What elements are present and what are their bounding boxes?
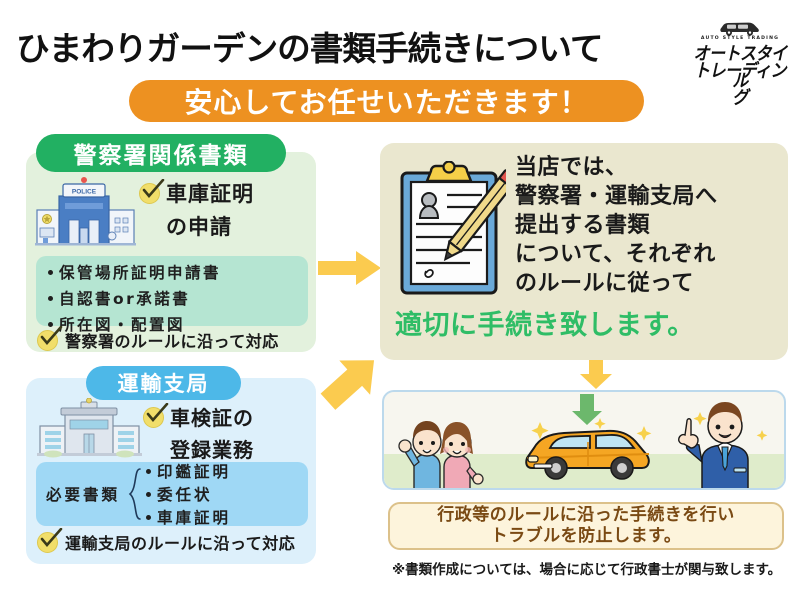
list-item: 車庫証明 [146,506,231,528]
svg-text:POLICE: POLICE [72,189,97,196]
main-description-card: 当店では、 警察署・運輸支局へ 提出する書類 について、それぞれ のルールに従っ… [380,143,788,360]
check-circle-icon [36,328,60,352]
illustration-card [382,390,786,490]
police-heading-line-2: の申請 [166,211,232,241]
check-circle-icon [138,181,162,205]
police-documents-box: 保管場所証明申請書 自認書or承諾書 所在図・配置図 [36,256,308,326]
police-section-label: 警察署関係書類 [74,136,249,170]
transport-section-header: 運輸支局 [86,366,241,400]
logo-line-2: トレーディング [688,55,792,109]
police-section-header: 警察署関係書類 [36,134,286,172]
check-circle-icon [36,530,60,554]
main-description-lines: 当店では、 警察署・運輸支局へ 提出する書類 について、それぞれ のルールに従っ… [515,153,780,298]
main-highlight-text: 適切に手続き致します。 [395,303,695,342]
list-item: 印鑑証明 [146,460,231,482]
bullet-icon [146,492,151,497]
transport-heading-line-2: 登録業務 [170,434,254,463]
header: ひまわりガーデンの書類手続きについて AUTO STYLE TRADING オー… [0,0,800,78]
bullet-icon [48,296,53,301]
description-line: 提出する書類 [515,211,780,240]
company-logo: AUTO STYLE TRADING オートスタイル トレーディング [688,20,792,78]
happy-couple-icon [396,410,496,490]
list-item: 委任状 [146,483,231,505]
list-item-label: 車庫証明 [157,506,231,528]
callout-line-2: トラブルを防止します。 [491,526,682,547]
car-icon [718,20,762,36]
list-item: 保管場所証明申請書 [48,261,308,283]
list-item-label: 印鑑証明 [157,460,231,482]
orange-car-icon [524,414,654,488]
police-heading-group: 車庫証明 の申請 [138,178,313,241]
arrow-up-right-icon [318,348,384,414]
transport-footer-note: 運輸支局のルールに沿って対応 [36,530,295,554]
list-item: 自認書or承諾書 [48,287,308,309]
subtitle-text: 安心してお任せいただきます！ [184,81,588,121]
transport-heading-group: 車検証の 登録業務 [142,402,314,463]
list-item-label: 委任状 [157,483,213,505]
police-station-icon: POLICE [33,176,138,248]
subtitle-banner: 安心してお任せいただきます！ [129,80,644,122]
footnote: ※書類作成については、場合に応じて行政書士が関与致します。 [392,558,781,578]
bullet-icon [146,515,151,520]
police-footer-label: 警察署のルールに沿って対応 [65,328,279,352]
description-line: 当店では、 [515,153,780,182]
arrow-down-icon [578,356,614,390]
clipboard-pencil-icon [398,161,506,299]
required-documents-label: 必要書類 [46,483,120,505]
police-footer-note: 警察署のルールに沿って対応 [36,328,279,352]
staff-pointing-icon [674,400,776,490]
description-line: 警察署・運輸支局へ [515,182,780,211]
transport-section-label: 運輸支局 [118,368,210,398]
check-circle-icon [142,405,166,429]
transport-documents-box: 必要書類 印鑑証明 委任状 車庫証明 [36,462,308,526]
description-line: について、それぞれ [515,240,780,269]
description-line: のルールに従って [515,269,780,298]
bullet-icon [146,469,151,474]
transport-footer-label: 運輸支局のルールに沿って対応 [65,530,295,554]
bullet-icon [48,270,53,275]
transport-heading-line-1: 車検証の [170,402,254,431]
list-item-label: 保管場所証明申請書 [59,261,221,283]
bottom-callout-box: 行政等のルールに沿った手続きを行い トラブルを防止します。 [388,502,784,550]
list-item-label: 自認書or承諾書 [59,287,190,309]
callout-line-1: 行政等のルールに沿った手続きを行い [437,505,735,526]
arrow-right-icon [318,248,382,288]
government-building-icon [37,398,142,460]
police-heading-line-1: 車庫証明 [166,178,254,208]
page-title: ひまわりガーデンの書類手続きについて [16,22,689,70]
brace-icon [128,468,142,520]
